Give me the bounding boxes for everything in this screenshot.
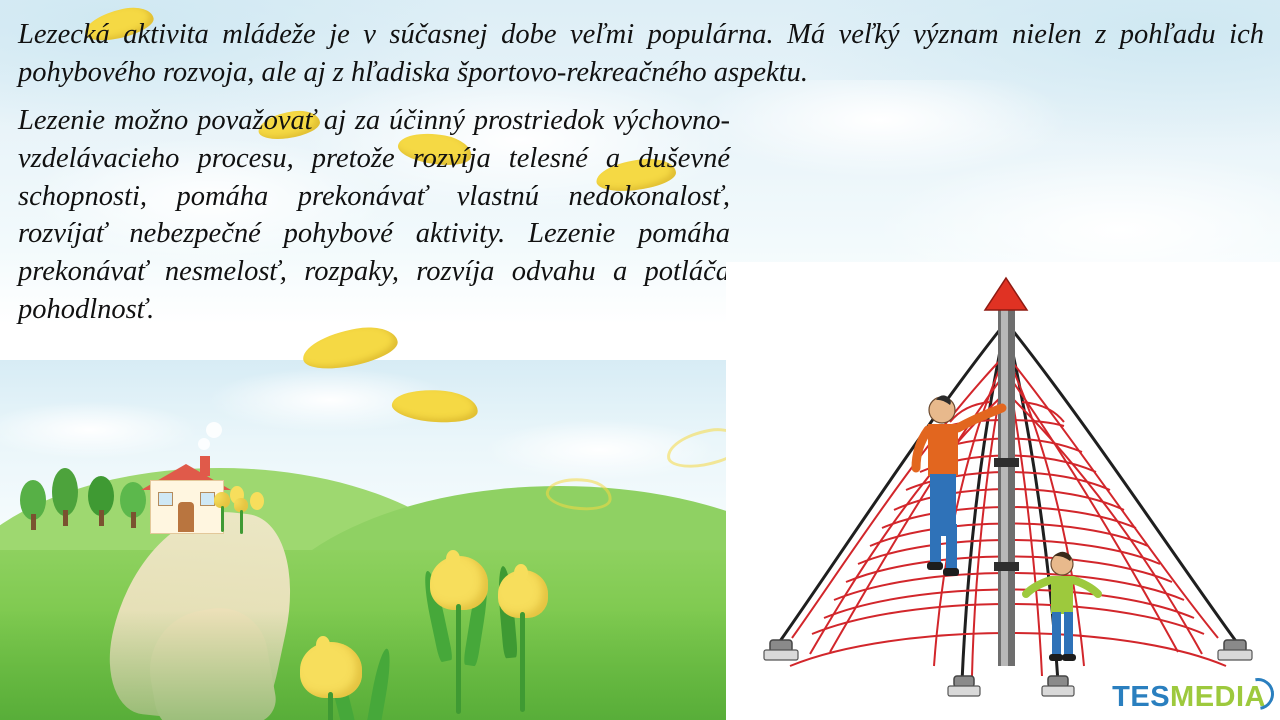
meadow-illustration — [0, 360, 726, 720]
watermark-tes: TES — [1112, 681, 1170, 713]
house-door — [178, 502, 194, 532]
house-window — [200, 492, 215, 506]
climbing-net-svg — [726, 262, 1280, 720]
house-window — [158, 492, 173, 506]
presentation-slide: Lezecká aktivita mládeže je v súčasnej d… — [0, 0, 1280, 720]
smoke-puff — [198, 438, 210, 450]
grass-shadow — [0, 610, 726, 720]
climbing-net-photo: TESMEDIA — [726, 262, 1280, 720]
paragraph-1: Lezecká aktivita mládeže je v súčasnej d… — [18, 16, 1264, 92]
smoke-puff — [206, 422, 222, 438]
paragraph-2: Lezenie možno považovať aj za účinný pro… — [18, 102, 730, 329]
